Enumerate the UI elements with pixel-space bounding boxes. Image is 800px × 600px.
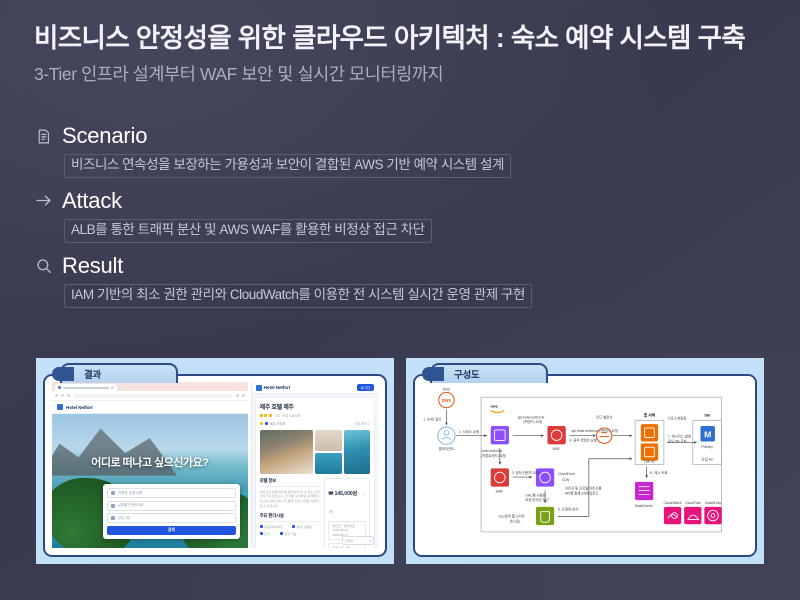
location-tag: 제주 서귀포 [260, 421, 286, 426]
star-icon [269, 414, 272, 417]
alb-label: 로드 밸런서 [596, 414, 612, 419]
search-card: 여행지, 호텔 이름 날짜를 선택하세요 성인 2명 [103, 484, 240, 539]
amenity-item: 실내 수영장 [292, 524, 312, 529]
mysql-glyph: M [704, 430, 711, 440]
db-primary-label: Primary [701, 445, 713, 449]
info-block-result: Result IAM 기반의 최소 권한 관리와 CloudWatch를 이용한… [34, 252, 780, 308]
info-block-attack: Attack ALB를 통한 트래픽 분산 및 AWS WAF를 활용한 비정상… [34, 187, 780, 243]
check-icon [260, 532, 263, 535]
url-input[interactable] [73, 394, 233, 398]
edge-label: 1. DNS 질의 [423, 416, 441, 421]
back-icon[interactable] [55, 394, 58, 397]
section-heading-amenities: 주요 편의시설 [260, 513, 322, 519]
waf-top-icon [547, 426, 565, 444]
edge-label: api.hotel.netfort.kr (백엔드) 요청 [572, 428, 618, 433]
info-head: Result [34, 252, 780, 280]
amenity-item: 무료 와이파이 [260, 524, 282, 529]
browser-chrome [52, 382, 248, 391]
amenities-grid: 무료 와이파이 실내 수영장 조식 주차 가능 [260, 524, 322, 536]
db-label: DB [704, 413, 710, 417]
info-list: Scenario 비즈니스 연속성을 보장하는 가용성과 보안이 결합된 AWS… [34, 122, 780, 317]
waf-bottom-icon [491, 468, 509, 486]
cloudtrail-label: CloudTrail [685, 501, 700, 505]
section-heading-info: 호텔 정보 [260, 478, 322, 484]
edge-label-cache1: 7. 캐시미스 발생 [668, 434, 691, 439]
header: 비즈니스 안정성을 위한 클라우드 아키텍처 : 숙소 예약 시스템 구축 3-… [34, 22, 780, 85]
detail-subrow: 제주 서귀포 지도 보기 > [260, 421, 370, 426]
cloudfront-sub: CDN [562, 478, 570, 482]
hero-banner: 어디로 떠나고 싶으신가요? 여행지, 호텔 이름 날짜를 선택하세요 [52, 414, 248, 548]
info-label: Scenario [62, 125, 147, 147]
cloudfront-label: CloudFront [558, 472, 575, 476]
reload-icon[interactable] [67, 394, 70, 397]
autoscaling-label: 오토스케일링 [668, 415, 687, 420]
check-icon [292, 525, 295, 528]
divider [260, 486, 322, 487]
edge-label-cache2: 경우 DB 조회 [668, 438, 687, 443]
db-az-label: 단일 AZ [702, 457, 713, 462]
elasticache-icon [635, 482, 653, 500]
location-text: 제주 서귀포 [270, 421, 286, 426]
edge-label-front2: (프론트엔드) 요청 [481, 453, 506, 458]
hotel-title: 제주 호텔 제주 [260, 402, 370, 411]
elasticache-label: ElastiCache [635, 504, 653, 508]
amenity-label: 무료 와이파이 [264, 524, 282, 529]
ec2-icon [641, 424, 658, 441]
panel-tab-label: 구성도 [454, 367, 479, 381]
panel-tab-result: 결과 [60, 363, 178, 383]
brand-name: Hotel Netfort [264, 385, 291, 390]
search-icon [34, 256, 53, 275]
ec2-icon [641, 443, 658, 460]
waf-top-label: WAF [552, 447, 559, 451]
rating-row: 4.8 · 리뷰 1,204개 [260, 413, 370, 418]
guardduty-icon [704, 507, 721, 524]
client-icon [438, 427, 455, 444]
document-icon [34, 127, 53, 146]
panel-tab-architecture: 구성도 [430, 363, 548, 383]
browser-tab[interactable] [55, 384, 117, 391]
gallery-column [315, 430, 342, 474]
gallery-photo[interactable] [315, 430, 342, 451]
search-input-destination[interactable]: 여행지, 호텔 이름 [107, 488, 236, 498]
brand-logo-icon [256, 385, 262, 391]
gallery-photo[interactable] [315, 453, 342, 474]
amenity-label: 실내 수영장 [297, 524, 312, 529]
search-placeholder: 성인 2명 [118, 516, 130, 521]
site-navbar: Hotel Netfort [52, 401, 248, 414]
pin-icon [260, 422, 264, 426]
edge-label: 2. 서비스 요청 [459, 429, 479, 434]
favicon-icon [58, 386, 61, 389]
person-icon [111, 516, 115, 520]
s3-label-1: S3 (정적 웹 사이트 [498, 513, 525, 518]
panel-body: .lbl{font-family:"Liberation Sans",sans-… [413, 374, 757, 557]
amenity-item: 조식 [260, 531, 270, 536]
hotel-description: 제주도의 푸른 바다를 바라보며 쉴 수 있는 프라이빗 리조트입니다. 전 객… [260, 490, 322, 509]
edge-label-oac: OAC를 사용한 [525, 492, 546, 497]
s3-label-2: 호스팅) [510, 518, 520, 523]
info-head: Scenario [34, 122, 780, 150]
browser-window-landing: Hotel Netfort 어디로 떠나고 싶으신가요? 여행 [52, 382, 248, 548]
price-value: ₩ 145,000원 [328, 491, 357, 497]
star-icon [260, 414, 263, 417]
page-title: 비즈니스 안정성을 위한 클라우드 아키텍처 : 숙소 예약 시스템 구축 [34, 22, 780, 55]
rating-meta: 4.8 · 리뷰 1,204개 [275, 413, 300, 418]
location-icon [111, 491, 115, 495]
client-label: 클라이언트 [439, 446, 454, 451]
close-icon[interactable] [111, 386, 114, 389]
star-icon [264, 414, 267, 417]
tab-title [63, 387, 109, 389]
page-subtitle: 3-Tier 인프라 설계부터 WAF 보안 및 실시간 모니터링까지 [34, 64, 780, 85]
browser-window-detail: Hotel Netfort 로그인 제주 호텔 제주 4 [251, 382, 378, 548]
brand-logo-icon [57, 404, 63, 410]
dns-label: DNS [443, 387, 451, 391]
login-button[interactable]: 로그인 [357, 384, 374, 391]
edge-label-api2: (백엔드) 요청 [523, 419, 542, 424]
edge-label: 3. 정적 컨텐츠 요청 [512, 470, 539, 475]
edge-label-upload1: 이미지 및 프로필 이미지를 [565, 486, 602, 491]
panel-tab-label: 결과 [84, 367, 101, 381]
slide-root: 비즈니스 안정성을 위한 클라우드 아키텍처 : 숙소 예약 시스템 구축 3-… [0, 0, 800, 600]
info-desc: ALB를 통한 트래픽 분산 및 AWS WAF를 활용한 비정상 접근 차단 [64, 219, 432, 243]
search-placeholder: 날짜를 선택하세요 [118, 503, 144, 508]
dns-icon-text: DNS [442, 398, 451, 403]
detail-card: 제주 호텔 제주 4.8 · 리뷰 1,204개 [255, 397, 375, 548]
browser-address-bar[interactable] [52, 391, 248, 401]
panel-architecture: 구성도 .lbl{font-family:"Liberation Sans",s… [406, 358, 764, 564]
info-block-scenario: Scenario 비즈니스 연속성을 보장하는 가용성과 보안이 결합된 AWS… [34, 122, 780, 178]
arrow-right-icon [34, 191, 53, 210]
chevron-down-icon: ▾ [369, 539, 371, 543]
edge-label: 6. 캐시 조회 [650, 470, 667, 475]
divider [260, 521, 322, 522]
amenity-label: 조식 [264, 531, 270, 536]
panel-body: Hotel Netfort 어디로 떠나고 싶으신가요? 여행 [43, 374, 387, 557]
check-icon [280, 532, 283, 535]
app-server-label: 앱 서버 [644, 412, 656, 417]
search-placeholder: 여행지, 호텔 이름 [118, 491, 142, 496]
detail-brand: Hotel Netfort [256, 385, 291, 391]
cloudtrail-icon [684, 507, 701, 524]
info-desc: IAM 기반의 최소 권한 관리와 CloudWatch를 이용한 전 시스템 … [64, 284, 532, 308]
language-value: 한국어 [345, 539, 353, 543]
amenity-item: 주차 가능 [280, 531, 297, 536]
detail-navbar: Hotel Netfort 로그인 [252, 382, 378, 394]
aws-logo-text: aws [491, 405, 498, 409]
info-label: Result [62, 255, 123, 277]
app-az-label: 다중 AZ [644, 459, 655, 464]
calendar-icon [111, 504, 115, 508]
detail-info-col: 호텔 정보 제주도의 푸른 바다를 바라보며 쉴 수 있는 프라이빗 리조트입니… [260, 478, 322, 548]
cloudfront-entry-icon [491, 426, 509, 444]
language-select[interactable]: 한국어 ▾ [342, 536, 374, 545]
info-label: Attack [62, 190, 122, 212]
panel-result: 결과 [36, 358, 394, 564]
info-head: Attack [34, 187, 780, 215]
hero-heading: 어디로 떠나고 싶으신가요? [52, 454, 248, 470]
forward-icon[interactable] [61, 394, 64, 397]
aws-smile-icon [491, 411, 504, 413]
waf-bottom-label: WAF [496, 489, 503, 493]
architecture-diagram: .lbl{font-family:"Liberation Sans",sans-… [415, 376, 755, 555]
cloudwatch-label: CloudWatch [663, 501, 681, 505]
cloudwatch-icon [664, 507, 681, 524]
bookmark-icon[interactable] [236, 394, 239, 397]
check-icon [260, 525, 263, 528]
badge-icon [265, 422, 269, 426]
browser-screenshot: Hotel Netfort 어디로 떠나고 싶으신가요? 여행 [52, 382, 378, 548]
amenity-label: 주차 가능 [284, 531, 296, 536]
menu-icon[interactable] [242, 394, 245, 397]
gallery-photo[interactable] [344, 430, 370, 474]
gallery-photo-main[interactable] [260, 430, 313, 474]
brand-name: Hotel Netfort [66, 405, 93, 410]
edge-label-upload2: API를 통해 S3에 업로드 [565, 490, 599, 495]
map-link[interactable]: 지도 보기 > [355, 421, 370, 426]
search-input-date[interactable]: 날짜를 선택하세요 [107, 501, 236, 511]
info-desc: 비즈니스 연속성을 보장하는 가용성과 보안이 결합된 AWS 기반 예약 시스… [64, 154, 511, 178]
edge-label-api: api.hotel.netfort.kr [518, 415, 546, 419]
search-button[interactable]: 검색 [107, 526, 236, 535]
guardduty-label: GuardDuty [705, 501, 722, 505]
edge-label: 5. 트래픽 분산 [558, 507, 578, 512]
search-input-guests[interactable]: 성인 2명 [107, 513, 236, 523]
detail-page: Hotel Netfort 로그인 제주 호텔 제주 4 [252, 382, 378, 548]
panel-group: 결과 [36, 358, 764, 564]
photo-gallery [260, 430, 370, 474]
edge-label: 4. 동적 컨텐츠 요청 [570, 437, 597, 442]
architecture-svg: .lbl{font-family:"Liberation Sans",sans-… [415, 376, 755, 555]
